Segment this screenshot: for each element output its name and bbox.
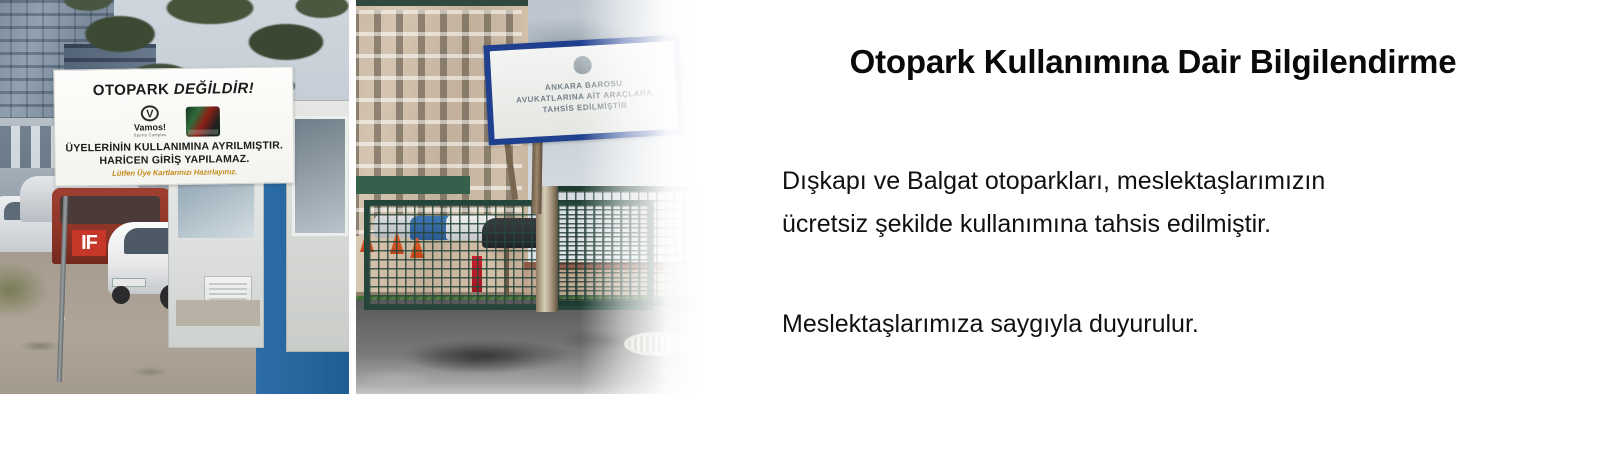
page-footer: ANKARA BB BAROSU [0,394,1600,458]
sign-headline-plain: OTOPARK [93,81,174,99]
sign-post [531,136,542,214]
announcement-paragraph-1: Dışkapı ve Balgat otoparkları, meslektaş… [782,160,1524,246]
announcement-page: IF OTOPARK DEĞİLDİR! [0,0,1600,458]
allocation-sign-text: ANKARA BAROSU AVUKATLARINA AİT ARAÇLARA … [498,75,672,118]
announcement-content: Otopark Kullanımına Dair Bilgilendirme D… [782,0,1524,394]
warning-sign-board: OTOPARK DEĞİLDİR! Vamos! Sports Complex … [53,66,295,186]
sign-body-text: ÜYELERİNİN KULLANIMINA AYRILMIŞTIR. HARİ… [55,139,293,167]
vamos-logo: Vamos! Sports Complex [128,105,172,140]
paragraph-1-line-1: Dışkapı ve Balgat otoparkları, meslektaş… [782,167,1325,195]
building-roof [356,0,528,6]
sign-note-text: Lütfen Üye Kartlarınızı Hazırlayınız. [56,166,294,178]
metal-fence [552,186,700,306]
building-green-band [356,176,470,194]
container-window [292,116,348,236]
manhole-cover [624,332,688,356]
photo-left-parking-warning-sign: IF OTOPARK DEĞİLDİR! [0,0,349,394]
announcement-paragraph-2: Meslektaşlarımıza saygıyla duyurulur. [782,303,1524,346]
ankara-barosu-logo-icon [186,106,220,136]
sign-headline-italic: DEĞİLDİR! [174,80,254,98]
page-title: Otopark Kullanımına Dair Bilgilendirme [782,42,1524,82]
sign-logo-row: Vamos! Sports Complex [55,103,293,140]
asphalt-patch [366,332,606,382]
photo-right-parking-entrance: ANKARA BAROSU AVUKATLARINA AİT ARAÇLARA … [356,0,700,394]
car-wheel [112,286,130,304]
vamos-v-icon [141,105,159,121]
vamos-logo-subtitle: Sports Complex [128,132,172,138]
allocation-sign-board: ANKARA BAROSU AVUKATLARINA AİT ARAÇLARA … [483,35,684,146]
concrete-step [176,300,260,326]
van-decal-text: IF [72,230,106,256]
paragraph-1-line-2: ücretsiz şekilde kullanımına tahsis edil… [782,203,1524,246]
vamos-logo-name: Vamos! [128,122,172,133]
sign-headline: OTOPARK DEĞİLDİR! [54,80,292,98]
photo-strip: IF OTOPARK DEĞİLDİR! [0,0,700,394]
